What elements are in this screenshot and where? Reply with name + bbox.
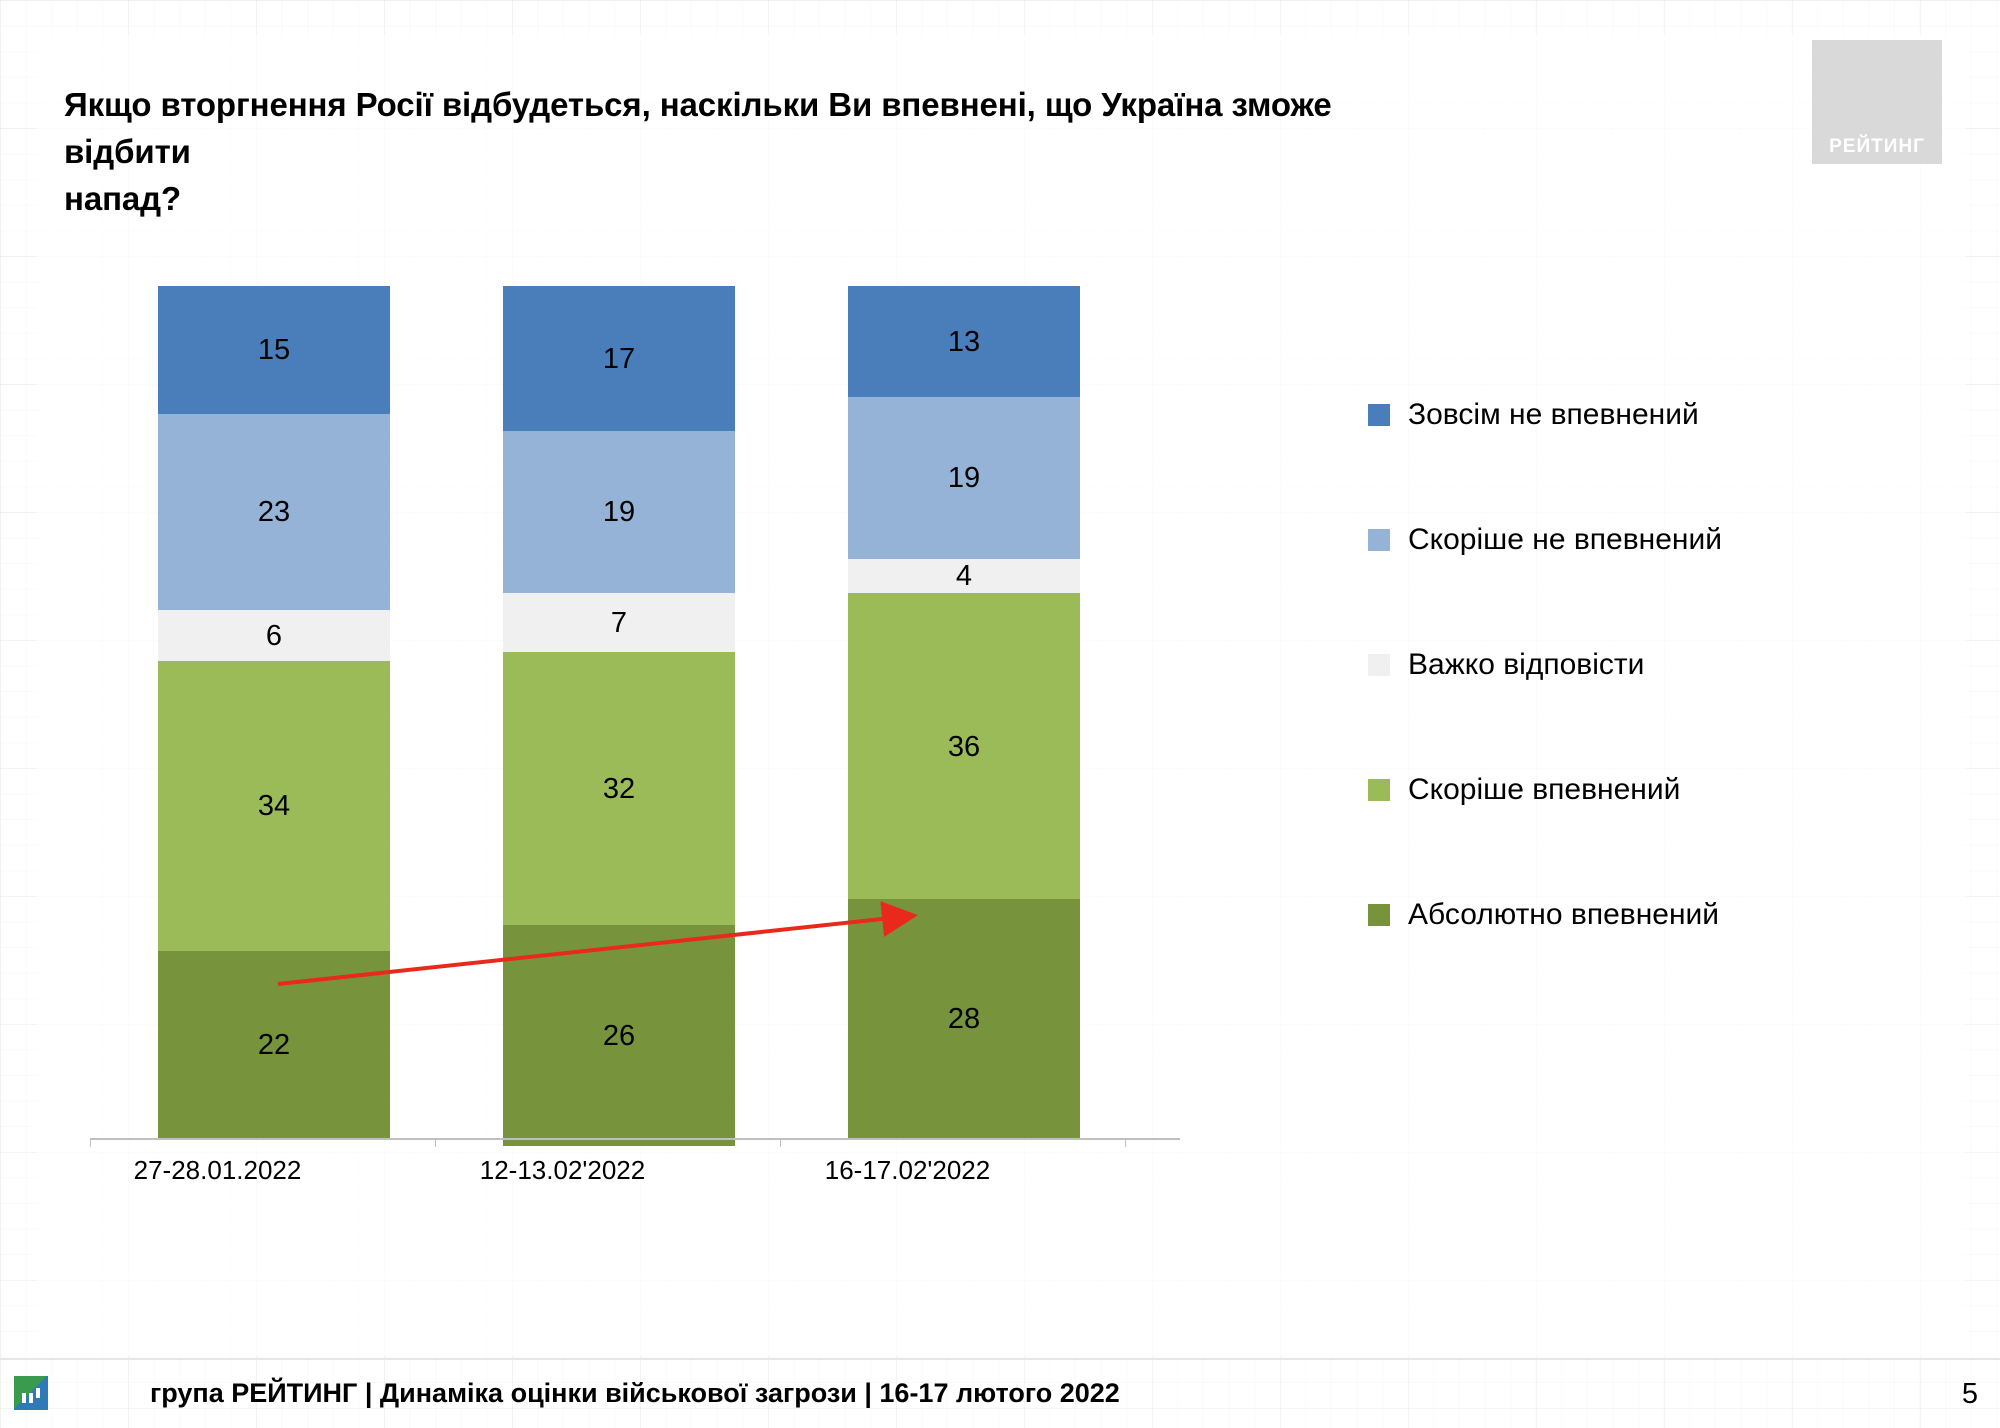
bar-segment[interactable]: 23 <box>158 414 390 610</box>
legend-swatch-icon <box>1368 654 1390 676</box>
bar-segment-value: 32 <box>603 775 635 804</box>
legend-swatch-icon <box>1368 904 1390 926</box>
x-axis-tick <box>435 1138 436 1147</box>
bar-segment[interactable]: 34 <box>158 661 390 951</box>
bar-segment[interactable]: 19 <box>848 397 1080 559</box>
legend-item[interactable]: Абсолютно впевнений <box>1368 852 1908 977</box>
bar-segment[interactable]: 4 <box>848 559 1080 593</box>
bar-segment[interactable]: 6 <box>158 610 390 661</box>
stacked-bar-column-1[interactable]: 152363422 <box>158 286 390 1138</box>
bar-segment[interactable]: 7 <box>503 593 735 653</box>
bar-segment-value: 36 <box>948 733 980 762</box>
bar-segment-value: 19 <box>948 464 980 493</box>
rating-mark-icon <box>14 1376 48 1410</box>
page-number: 5 <box>1962 1378 1978 1411</box>
legend-item-label: Скоріше не впевнений <box>1408 523 1722 557</box>
bar-segment[interactable]: 15 <box>158 286 390 414</box>
x-axis-label-1: 27-28.01.2022 <box>45 1155 390 1186</box>
bar-segment[interactable]: 36 <box>848 593 1080 900</box>
bar-segment-value: 17 <box>603 345 635 374</box>
bar-segment-value: 28 <box>948 1005 980 1034</box>
page-title: Якщо вторгнення Росії відбудеться, наскі… <box>64 82 1364 223</box>
legend-swatch-icon <box>1368 529 1390 551</box>
legend-item[interactable]: Скоріше не впевнений <box>1368 477 1908 602</box>
x-axis-tick <box>90 1138 91 1147</box>
page-title-line-1: Якщо вторгнення Росії відбудеться, наскі… <box>64 82 1364 176</box>
bar-segment-value: 26 <box>603 1022 635 1051</box>
bar-segment-value: 34 <box>258 792 290 821</box>
bar-segment-value: 23 <box>258 498 290 527</box>
legend-swatch-icon <box>1368 404 1390 426</box>
legend-item[interactable]: Скоріше впевнений <box>1368 727 1908 852</box>
bar-segment[interactable]: 17 <box>503 286 735 431</box>
chart-legend: Зовсім не впевненийСкоріше не впевненийВ… <box>1368 352 1908 977</box>
bar-segment[interactable]: 22 <box>158 951 390 1138</box>
bar-segment-value: 7 <box>611 609 627 638</box>
x-axis-label-2: 12-13.02'2022 <box>390 1155 735 1186</box>
x-axis-label-3: 16-17.02'2022 <box>735 1155 1080 1186</box>
bar-segment-value: 4 <box>956 562 972 591</box>
bar-segment[interactable]: 19 <box>503 431 735 593</box>
rating-logo: РЕЙТИНГ <box>1812 40 1942 164</box>
stacked-bar-column-2[interactable]: 171973226 <box>503 286 735 1138</box>
stacked-bar-column-3[interactable]: 131943628 <box>848 286 1080 1138</box>
bar-segment-value: 19 <box>603 498 635 527</box>
legend-item[interactable]: Важко відповісти <box>1368 602 1908 727</box>
chart-plot-area: 152363422 171973226 131943628 <box>90 286 1180 1138</box>
bar-segment[interactable]: 26 <box>503 925 735 1147</box>
legend-swatch-icon <box>1368 779 1390 801</box>
bar-segment[interactable]: 13 <box>848 286 1080 397</box>
bar-segment-value: 13 <box>948 328 980 357</box>
legend-item-label: Скоріше впевнений <box>1408 773 1680 807</box>
legend-item-label: Зовсім не впевнений <box>1408 398 1699 432</box>
bar-segment-value: 6 <box>266 622 282 651</box>
bar-segment[interactable]: 28 <box>848 899 1080 1138</box>
bar-segment[interactable]: 32 <box>503 652 735 925</box>
rating-logo-label: РЕЙТИНГ <box>1829 136 1925 158</box>
x-axis-tick <box>780 1138 781 1147</box>
x-axis-line <box>90 1138 1180 1140</box>
slide-canvas: Якщо вторгнення Росії відбудеться, наскі… <box>0 0 2000 1428</box>
legend-item[interactable]: Зовсім не впевнений <box>1368 352 1908 477</box>
bar-segment-value: 15 <box>258 336 290 365</box>
footer-caption: група РЕЙТИНГ | Динаміка оцінки військов… <box>150 1378 1120 1409</box>
bar-segment-value: 22 <box>258 1031 290 1060</box>
legend-item-label: Важко відповісти <box>1408 648 1644 682</box>
x-axis-tick <box>1125 1138 1126 1147</box>
page-title-line-2: напад? <box>64 176 1364 223</box>
footer-divider <box>0 1358 2000 1360</box>
legend-item-label: Абсолютно впевнений <box>1408 898 1719 932</box>
